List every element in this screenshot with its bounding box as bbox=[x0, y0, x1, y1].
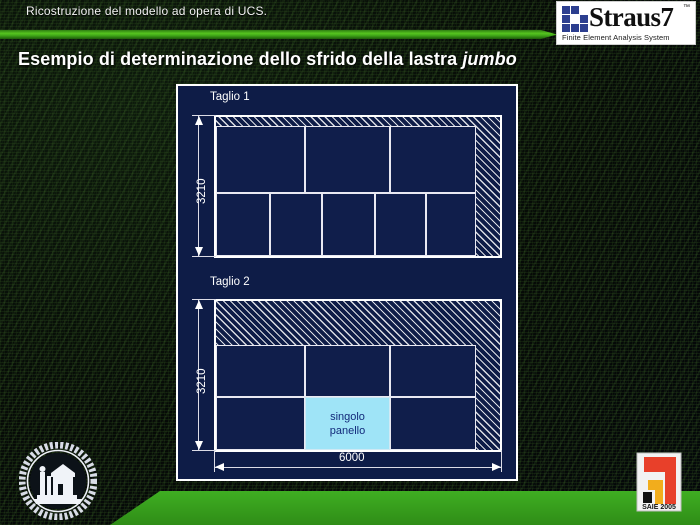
drawing-panel: Taglio 1 3210 Taglio 2 bbox=[176, 84, 518, 481]
saie-2005-logo: SAIE 2005 bbox=[636, 452, 682, 512]
cut2-label: Taglio 2 bbox=[210, 276, 250, 288]
green-divider-bar bbox=[0, 29, 557, 40]
cut1-panel-bottom-5 bbox=[426, 193, 476, 256]
straus7-brand-text: Straus bbox=[589, 2, 660, 32]
straus7-wordmark: Straus7 bbox=[589, 1, 673, 33]
cut2-width-dimension: 6000 bbox=[339, 452, 365, 464]
straus7-brand-number: 7 bbox=[660, 2, 673, 32]
cut2-panel-r1c3 bbox=[390, 345, 476, 397]
green-floor-shape bbox=[0, 465, 700, 525]
saie-label-text: SAIE 2005 bbox=[642, 504, 676, 511]
cut2-dim-ext-bottom bbox=[192, 450, 216, 451]
cut2-dim-arrow-down bbox=[195, 441, 203, 450]
title-italic-text: jumbo bbox=[462, 49, 517, 69]
university-seal-logo bbox=[19, 442, 97, 520]
cut1-dim-ext-bottom bbox=[192, 256, 216, 257]
cut1-label: Taglio 1 bbox=[210, 91, 250, 103]
cut2-panel-r1c1 bbox=[216, 345, 305, 397]
cut2-height-dimension: 3210 bbox=[196, 368, 208, 394]
straus7-logo: Straus7 ™ Finite Element Analysis System bbox=[556, 1, 696, 45]
cut1-panel-bottom-3 bbox=[322, 193, 375, 256]
cut1-panel-bottom-1 bbox=[216, 193, 270, 256]
slide-subtitle: Ricostruzione del modello ad opera di UC… bbox=[26, 4, 267, 18]
cut1-panel-bottom-2 bbox=[270, 193, 322, 256]
cut1-panel-top-2 bbox=[305, 126, 390, 193]
trademark-symbol: ™ bbox=[683, 4, 690, 11]
cut1-panel-top-1 bbox=[216, 126, 305, 193]
cut1-dim-arrow-up bbox=[195, 116, 203, 125]
straus7-checker-icon bbox=[562, 6, 588, 32]
cut1-panel-bottom-4 bbox=[375, 193, 426, 256]
cut2-panel-r2c1 bbox=[216, 397, 305, 450]
cut1-panel-top-3 bbox=[390, 126, 476, 193]
cut2-panel-r1c2 bbox=[305, 345, 390, 397]
straus7-tagline: Finite Element Analysis System bbox=[562, 33, 670, 42]
slide-canvas: Ricostruzione del modello ad opera di UC… bbox=[0, 0, 700, 525]
cut2-dim-arrow-up bbox=[195, 300, 203, 309]
cut1-dim-arrow-down bbox=[195, 247, 203, 256]
singolo-panello-line1: singolo bbox=[306, 410, 389, 424]
singolo-panello-label: singolo panello bbox=[306, 410, 389, 438]
page-title: Esempio di determinazione dello sfrido d… bbox=[18, 49, 517, 70]
title-main-text: Esempio di determinazione dello sfrido d… bbox=[18, 49, 462, 69]
cut2-panel-highlighted: singolo panello bbox=[305, 397, 390, 450]
cut1-height-dimension: 3210 bbox=[196, 178, 208, 204]
cut2-panel-r2c3 bbox=[390, 397, 476, 450]
singolo-panello-line2: panello bbox=[306, 424, 389, 438]
